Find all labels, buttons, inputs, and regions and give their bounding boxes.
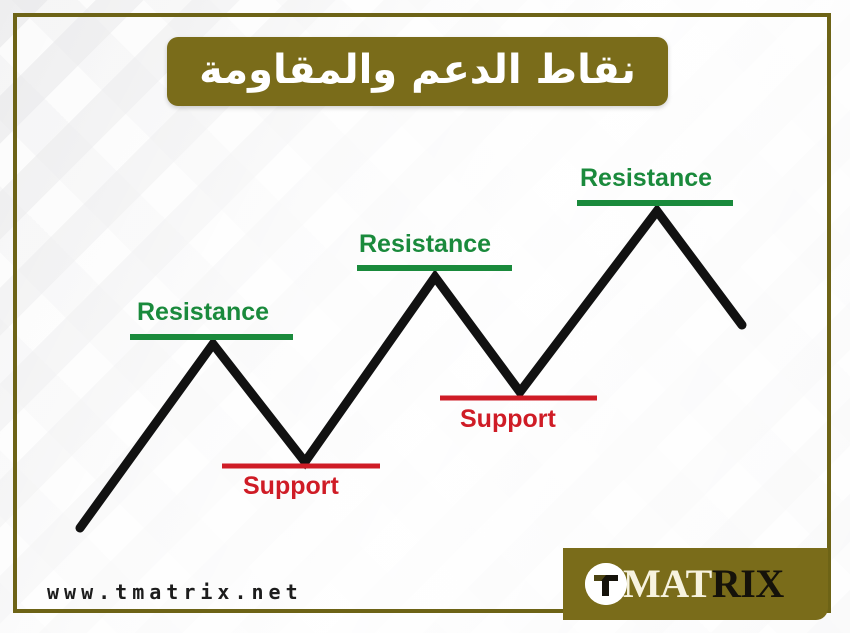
price-chart [0, 0, 850, 633]
logo-word-dark: RIX [712, 561, 784, 606]
logo-wordmark: MATRIX [623, 564, 784, 604]
support-label: Support [243, 474, 339, 499]
support-label: Support [460, 407, 556, 432]
resistance-label: Resistance [580, 166, 712, 191]
site-url[interactable]: www.tmatrix.net [47, 580, 303, 604]
price-line [80, 211, 742, 528]
logo-word-light: MAT [623, 561, 712, 606]
resistance-label: Resistance [137, 300, 269, 325]
resistance-label: Resistance [359, 232, 491, 257]
brand-logo[interactable]: MATRIX [563, 548, 828, 620]
infographic-canvas: نقاط الدعم والمقاومة ResistanceSupportRe… [0, 0, 850, 633]
tmatrix-t-icon [585, 563, 627, 605]
